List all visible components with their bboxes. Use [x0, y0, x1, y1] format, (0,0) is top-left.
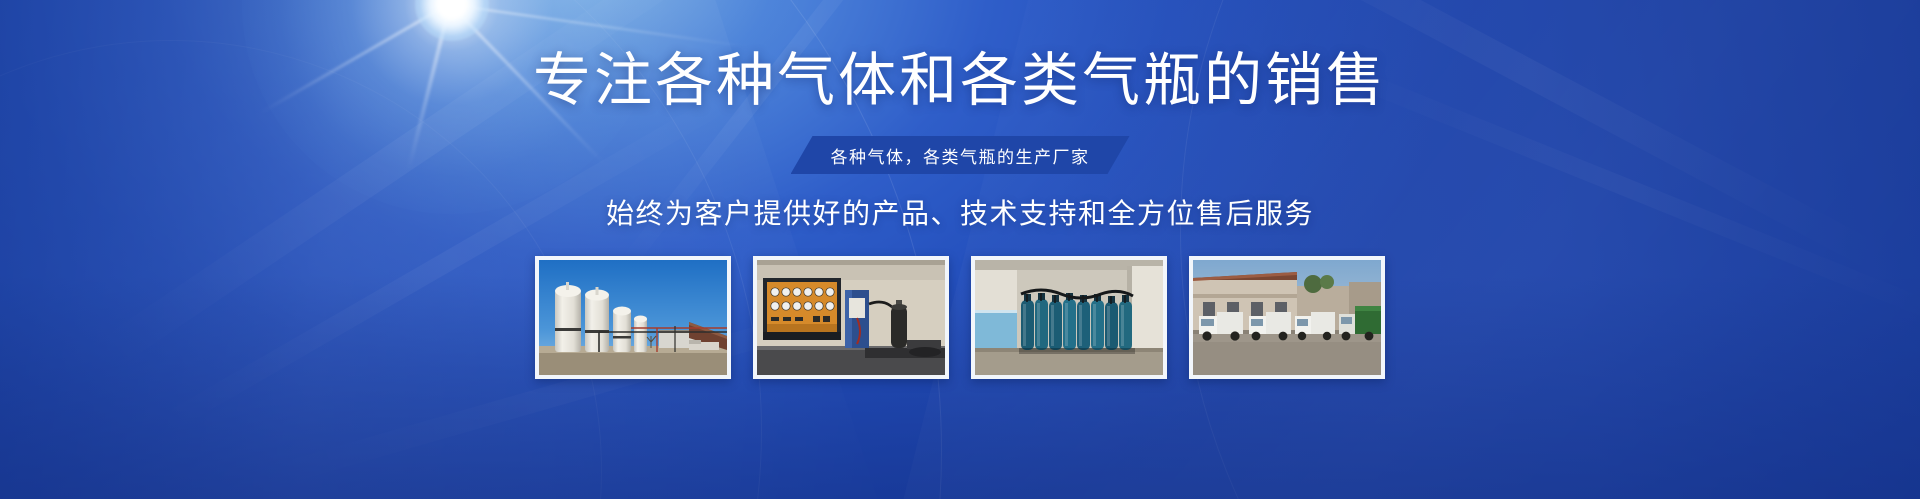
- banner-subheadline: 始终为客户提供好的产品、技术支持和全方位售后服务: [606, 200, 1314, 228]
- gallery-photo-gas-filling-control-panel[interactable]: [753, 256, 949, 379]
- banner-ribbon-label: 各种气体，各类气瓶的生产厂家: [791, 136, 1130, 174]
- gallery-photo-blue-gas-cylinders-warehouse[interactable]: [971, 256, 1167, 379]
- delivery-truck-fleet-image: [1193, 260, 1381, 375]
- gallery-photo-delivery-truck-fleet[interactable]: [1189, 256, 1385, 379]
- hero-banner: 专注各种气体和各类气瓶的销售 各种气体，各类气瓶的生产厂家 始终为客户提供好的产…: [0, 0, 1920, 499]
- gas-filling-control-panel-image: [757, 260, 945, 375]
- photo-gallery: [535, 256, 1385, 379]
- cryogenic-storage-tanks-image: [539, 260, 727, 375]
- banner-content: 专注各种气体和各类气瓶的销售 各种气体，各类气瓶的生产厂家 始终为客户提供好的产…: [0, 0, 1920, 499]
- blue-gas-cylinders-warehouse-image: [975, 260, 1163, 375]
- banner-headline: 专注各种气体和各类气瓶的销售: [533, 52, 1387, 110]
- gallery-photo-cryogenic-storage-tanks[interactable]: [535, 256, 731, 379]
- banner-ribbon: 各种气体，各类气瓶的生产厂家: [791, 136, 1130, 174]
